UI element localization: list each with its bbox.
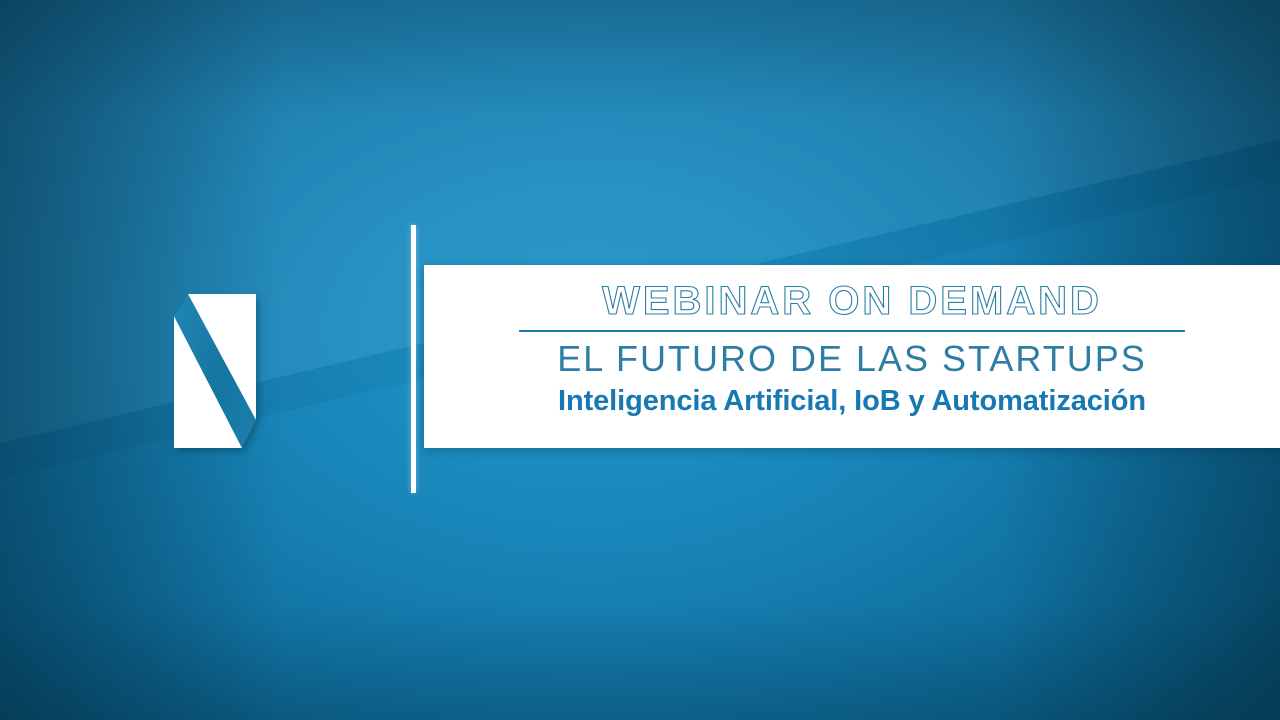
- brand-logo: [174, 294, 256, 448]
- n-mark-logo-shape: [174, 294, 256, 448]
- vertical-accent-bar: [411, 225, 416, 493]
- title-divider: [519, 330, 1185, 332]
- subtitle-el-futuro-de-las-startups: EL FUTURO DE LAS STARTUPS: [557, 341, 1146, 377]
- topic-line: Inteligencia Artificial, IoB y Automatiz…: [558, 386, 1146, 416]
- headline-webinar-on-demand: WEBINAR ON DEMAND: [602, 281, 1102, 321]
- title-panel: WEBINAR ON DEMAND EL FUTURO DE LAS START…: [424, 265, 1280, 448]
- webinar-title-slide: WEBINAR ON DEMAND EL FUTURO DE LAS START…: [0, 0, 1280, 720]
